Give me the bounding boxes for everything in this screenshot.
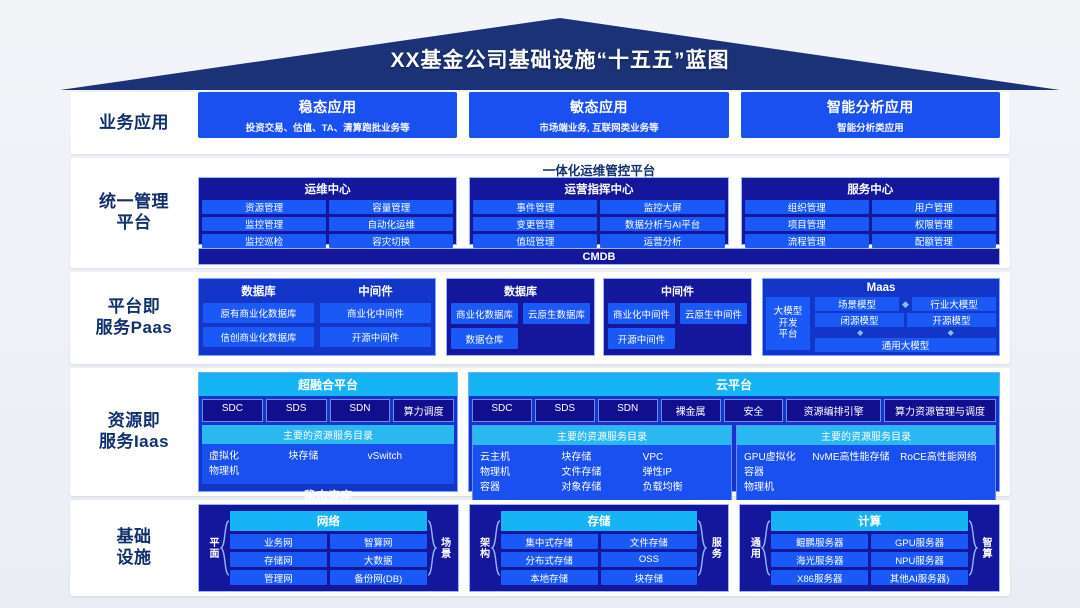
cloud-platform: 云平台 SDC SDS SDN 裸金属 安全 资源编排引擎 算力资源管理与调度 …	[468, 372, 1000, 492]
paas-item-row: 开源中间件	[608, 328, 747, 353]
maas-model[interactable]: 行业大模型	[912, 297, 996, 311]
left-brace-icon	[491, 509, 501, 587]
paas-sub-title: 数据库	[203, 283, 314, 299]
catalog-item[interactable]: 块存储	[561, 450, 642, 465]
catalog-columns: 虚拟化 物理机 块存储 vSwitch	[209, 449, 447, 479]
sd-chip[interactable]: 算力资源管理与调度	[884, 399, 996, 422]
app-card-stable[interactable]: 稳态应用 投资交易、估值、TA、清算跑批业务等	[198, 92, 457, 138]
maas-dev-line2: 开发	[774, 318, 803, 330]
catalog-column: vSwitch	[368, 449, 447, 479]
infra-mid-network: 网络 业务网 智算网 存储网 大数据 管理网 备份网(DB)	[230, 511, 427, 585]
paas-database-traditional[interactable]: 数据库 原有商业化数据库 信创商业化数据库	[203, 283, 314, 351]
maas-title: Maas	[766, 282, 996, 294]
catalog-column: 块存储	[288, 449, 367, 479]
catalog-item[interactable]: 物理机	[209, 464, 288, 479]
infra-item[interactable]: 其他AI服务器)	[871, 570, 968, 585]
infra-right-label: 场景	[437, 509, 452, 587]
sd-chip-row: SDC SDS SDN 裸金属 安全 资源编排引擎 算力资源管理与调度	[469, 396, 999, 425]
iaas-columns: 超融合平台 SDC SDS SDN 算力调度 主要的资源服务目录 虚拟化	[198, 372, 1000, 492]
paas-item-row: 商业化数据库 云原生数据库	[451, 303, 590, 328]
center-item-grid: 资源管理 容量管理 监控管理 自动化运维 监控巡检 容灾切换	[202, 200, 453, 248]
sd-chip[interactable]: 资源编排引擎	[786, 399, 881, 422]
infra-card-network: 平面 网络 业务网 智算网 存储网 大数据 管理网 备份网(DB)	[198, 504, 459, 592]
paas-database-cloud[interactable]: 数据库 商业化数据库 云原生数据库 数据仓库	[446, 278, 595, 356]
infra-item[interactable]: 块存储	[601, 570, 698, 585]
infra-item[interactable]: 集中式存储	[501, 534, 598, 549]
row-label-paas: 平台即 服务Paas	[70, 297, 198, 338]
row-label-unified-management: 统一管理 平台	[70, 192, 198, 233]
maas-model-stack: 场景模型 ◆ 行业大模型 闭源模型 开源模型 ◆ ◆	[815, 297, 996, 350]
maas-dev-line3: 平台	[774, 329, 803, 341]
paas-item[interactable]: 开源中间件	[608, 328, 675, 349]
paas-item[interactable]: 商业化中间件	[320, 303, 431, 323]
center-item[interactable]: 值班管理	[473, 234, 597, 248]
catalog-wrap: 主要的资源服务目录 虚拟化 物理机 块存储	[199, 425, 457, 484]
sd-chip[interactable]: 安全	[724, 399, 784, 422]
cloud-catalog-general: 主要的资源服务目录 云主机 物理机 容器 块存储	[472, 425, 732, 501]
center-item[interactable]: 项目管理	[745, 217, 869, 231]
row-label-iaas: 资源即 服务Iaas	[70, 411, 198, 452]
infra-card-compute: 通用 计算 鲲鹏服务器 GPU服务器 海光服务器 NPU服务器 X86服务器 其…	[739, 504, 1000, 592]
center-title: 运维中心	[202, 181, 453, 197]
catalog-item[interactable]: 容器	[744, 465, 812, 480]
app-card-intelligent-analysis[interactable]: 智能分析应用 智能分析类应用	[741, 92, 1000, 138]
cloud-catalog-ai: 主要的资源服务目录 GPU虚拟化 容器 物理机 NvME高性能	[736, 425, 996, 501]
catalog-item[interactable]: NvME高性能存储	[812, 450, 900, 465]
right-brace-icon	[697, 509, 707, 587]
infra-title: 存储	[501, 511, 698, 531]
maas-general-model[interactable]: 通用大模型	[815, 338, 996, 352]
catalog-item[interactable]: 块存储	[288, 449, 367, 464]
row-infrastructure-as-a-service: 资源即 服务Iaas 超融合平台 SDC SDS SDN 算力调度 主要的资源服…	[70, 368, 1010, 496]
infra-left-label: 平面	[205, 509, 220, 587]
row-body-iaas: 超融合平台 SDC SDS SDN 算力调度 主要的资源服务目录 虚拟化	[198, 368, 1010, 496]
infra-right-label: 智算	[978, 509, 993, 587]
row-unified-management: 统一管理 平台 一体化运维管控平台 运维中心 资源管理 容量管理 监控管理 自动…	[70, 158, 1010, 268]
row-label-infrastructure: 基础 设施	[70, 527, 198, 568]
center-item-grid: 事件管理 监控大屏 变更管理 数据分析与AI平台 值班管理 运营分析	[473, 200, 724, 248]
cloud-catalog-panes: 主要的资源服务目录 云主机 物理机 容器 块存储	[469, 425, 999, 504]
center-item[interactable]: 自动化运维	[329, 217, 453, 231]
catalog-column: 虚拟化 物理机	[209, 449, 288, 479]
app-card-subtitle: 智能分析类应用	[837, 120, 904, 134]
sd-chip[interactable]: SDC	[472, 399, 532, 422]
paas-item[interactable]: 商业化数据库	[451, 303, 518, 324]
infra-item[interactable]: GPU服务器	[871, 534, 968, 549]
catalog-column: VPC 弹性IP 负载均衡	[643, 450, 724, 495]
infra-left-label: 架构	[476, 509, 491, 587]
left-brace-icon	[761, 509, 771, 587]
infra-left-label: 通用	[746, 509, 761, 587]
paas-item[interactable]: 云原生中间件	[680, 303, 747, 324]
infra-item[interactable]: X86服务器	[771, 570, 868, 585]
catalog-body: 云主机 物理机 容器 块存储 文件存储 对象存储	[473, 445, 731, 500]
paas-sub-title: 中间件	[320, 283, 431, 299]
maas-dev-line1: 大模型	[774, 306, 803, 318]
catalog-item[interactable]: 对象存储	[561, 480, 642, 495]
catalog-item[interactable]: vSwitch	[368, 449, 447, 464]
infra-card-storage: 架构 存储 集中式存储 文件存储 分布式存储 OSS 本地存储 块存储	[469, 504, 730, 592]
catalog-item[interactable]: 虚拟化	[209, 449, 288, 464]
paas-sub-title: 数据库	[451, 283, 590, 299]
row-label-line2: 服务Paas	[70, 318, 198, 339]
app-card-title: 智能分析应用	[827, 97, 914, 117]
center-item[interactable]: 监控巡检	[202, 234, 326, 248]
infra-item[interactable]: 业务网	[230, 534, 327, 549]
infra-mid-storage: 存储 集中式存储 文件存储 分布式存储 OSS 本地存储 块存储	[501, 511, 698, 585]
app-card-subtitle: 市场端业务, 互联网类业务等	[539, 120, 658, 134]
paas-item-spacer	[680, 328, 747, 353]
application-card-strip: 稳态应用 投资交易、估值、TA、清算跑批业务等 敏态应用 市场端业务, 互联网类…	[198, 92, 1010, 138]
sd-chip[interactable]: 算力调度	[393, 399, 454, 422]
row-label-business-application: 业务应用	[70, 113, 198, 134]
catalog-item[interactable]: GPU虚拟化	[744, 450, 812, 465]
infra-item[interactable]: 文件存储	[601, 534, 698, 549]
paas-middleware-traditional[interactable]: 中间件 商业化中间件 开源中间件	[320, 283, 431, 351]
row-platform-as-a-service: 平台即 服务Paas 数据库 原有商业化数据库 信创商业化数据库 中间件 商业化…	[70, 272, 1010, 364]
center-ops[interactable]: 运维中心 资源管理 容量管理 监控管理 自动化运维 监控巡检 容灾切换	[198, 177, 457, 245]
platform-header: 超融合平台	[199, 373, 457, 396]
row-label-line1: 平台即	[70, 297, 198, 318]
catalog-body: 虚拟化 物理机 块存储 vSwitch	[202, 444, 454, 484]
center-item[interactable]: 配额管理	[872, 234, 996, 248]
maas-model[interactable]: 开源模型	[907, 313, 996, 327]
paas-item-row: 商业化中间件 云原生中间件	[608, 303, 747, 328]
maas-model[interactable]: 场景模型	[815, 297, 899, 311]
app-card-title: 敏态应用	[570, 97, 628, 117]
row-label-line2: 平台	[70, 213, 198, 234]
roof-banner: XX基金公司基础设施“十五五”蓝图	[60, 18, 1060, 90]
center-operation-command[interactable]: 运营指挥中心 事件管理 监控大屏 变更管理 数据分析与AI平台 值班管理 运营分…	[469, 177, 728, 245]
paas-groups: 数据库 原有商业化数据库 信创商业化数据库 中间件 商业化中间件 开源中间件 数…	[198, 278, 1000, 356]
sd-chip[interactable]: 裸金属	[661, 399, 721, 422]
infra-item[interactable]: 鲲鹏服务器	[771, 534, 868, 549]
catalog-column: 块存储 文件存储 对象存储	[561, 450, 642, 495]
row-body-paas: 数据库 原有商业化数据库 信创商业化数据库 中间件 商业化中间件 开源中间件 数…	[198, 272, 1010, 364]
row-label-line2: 服务Iaas	[70, 432, 198, 453]
paas-group-maas: Maas 大模型 开发 平台 场景模型 ◆	[762, 278, 1000, 356]
sd-chip-row: SDC SDS SDN 算力调度	[199, 396, 457, 425]
catalog-item[interactable]: VPC	[643, 450, 724, 465]
row-label-line1: 基础	[70, 527, 198, 548]
center-item[interactable]: 资源管理	[202, 200, 326, 214]
app-card-agile[interactable]: 敏态应用 市场端业务, 互联网类业务等	[469, 92, 728, 138]
catalog-item[interactable]: RoCE高性能网络	[900, 450, 988, 465]
catalog-item[interactable]: 物理机	[744, 480, 812, 495]
center-item[interactable]: 容量管理	[329, 200, 453, 214]
maas-row-scene: 场景模型 ◆ 行业大模型	[815, 297, 996, 311]
paas-item-spacer	[523, 328, 590, 353]
catalog-columns: 云主机 物理机 容器 块存储 文件存储 对象存储	[480, 450, 724, 495]
infra-right-label: 服务	[707, 509, 722, 587]
row-label-line1: 资源即	[70, 411, 198, 432]
infra-mid-compute: 计算 鲲鹏服务器 GPU服务器 海光服务器 NPU服务器 X86服务器 其他AI…	[771, 511, 968, 585]
center-item[interactable]: 事件管理	[473, 200, 597, 214]
catalog-item[interactable]: 容器	[480, 480, 561, 495]
infra-item[interactable]: 智算网	[330, 534, 427, 549]
row-infrastructure: 基础 设施 平面 网络 业务网 智算网 存储网	[70, 500, 1010, 596]
center-item[interactable]: 权限管理	[872, 217, 996, 231]
maas-arrow-row: ◆ ◆	[815, 329, 996, 336]
center-item[interactable]: 变更管理	[473, 217, 597, 231]
infra-item-grid: 集中式存储 文件存储 分布式存储 OSS 本地存储 块存储	[501, 534, 698, 585]
catalog-header: 主要的资源服务目录	[737, 426, 995, 445]
row-body-business-application: 稳态应用 投资交易、估值、TA、清算跑批业务等 敏态应用 市场端业务, 互联网类…	[198, 92, 1010, 154]
paas-item[interactable]: 数据仓库	[451, 328, 518, 349]
infra-item[interactable]: 海光服务器	[771, 552, 868, 567]
cmdb-bar[interactable]: CMDB	[198, 248, 1000, 265]
row-label-line1: 统一管理	[70, 192, 198, 213]
sd-chip[interactable]: SDN	[330, 399, 391, 422]
infra-title: 计算	[771, 511, 968, 531]
center-title: 运营指挥中心	[473, 181, 724, 197]
infra-item[interactable]: 分布式存储	[501, 552, 598, 567]
diamond-arrow-icon: ◆	[902, 300, 909, 309]
maas-body: 大模型 开发 平台 场景模型 ◆ 行业大模型	[766, 297, 996, 350]
diamond-arrow-icon: ◆	[815, 329, 906, 336]
row-body-infrastructure: 平面 网络 业务网 智算网 存储网 大数据 管理网 备份网(DB)	[198, 500, 1010, 596]
diamond-arrow-icon: ◆	[906, 329, 997, 336]
center-title: 服务中心	[745, 181, 996, 197]
row-label-line2: 设施	[70, 548, 198, 569]
infra-item[interactable]: NPU服务器	[871, 552, 968, 567]
platform-header: 云平台	[469, 373, 999, 396]
infra-item[interactable]: OSS	[601, 552, 698, 567]
center-item-grid: 组织管理 用户管理 项目管理 权限管理 流程管理 配额管理	[745, 200, 996, 248]
right-brace-icon	[968, 509, 978, 587]
catalog-body: GPU虚拟化 容器 物理机 NvME高性能存储 RoCE高性能网络	[737, 445, 995, 500]
paas-group-cloud-native: 数据库 商业化数据库 云原生数据库 数据仓库	[446, 278, 752, 356]
catalog-item[interactable]: 云主机	[480, 450, 561, 465]
catalog-item[interactable]: 负载均衡	[643, 480, 724, 495]
sd-chip[interactable]: SDC	[202, 399, 263, 422]
row-body-unified-management: 一体化运维管控平台 运维中心 资源管理 容量管理 监控管理 自动化运维 监控巡检…	[198, 158, 1010, 268]
catalog-column: GPU虚拟化 容器 物理机	[744, 450, 812, 495]
center-item[interactable]: 组织管理	[745, 200, 869, 214]
infra-item[interactable]: 备份网(DB)	[330, 570, 427, 585]
paas-group-traditional: 数据库 原有商业化数据库 信创商业化数据库 中间件 商业化中间件 开源中间件	[198, 278, 436, 356]
catalog-header: 主要的资源服务目录	[473, 426, 731, 445]
sd-chip[interactable]: SDS	[266, 399, 327, 422]
catalog-column: NvME高性能存储	[812, 450, 900, 495]
infra-title: 网络	[230, 511, 427, 531]
paas-item[interactable]: 开源中间件	[320, 327, 431, 347]
infra-item-grid: 鲲鹏服务器 GPU服务器 海光服务器 NPU服务器 X86服务器 其他AI服务器…	[771, 534, 968, 585]
app-card-subtitle: 投资交易、估值、TA、清算跑批业务等	[246, 120, 410, 134]
paas-item[interactable]: 云原生数据库	[523, 303, 590, 324]
app-card-title: 稳态应用	[299, 97, 357, 117]
center-service[interactable]: 服务中心 组织管理 用户管理 项目管理 权限管理 流程管理 配额管理	[741, 177, 1000, 245]
center-item[interactable]: 数据分析与AI平台	[600, 217, 724, 231]
right-brace-icon	[427, 509, 437, 587]
center-item[interactable]: 运营分析	[600, 234, 724, 248]
catalog-header: 主要的资源服务目录	[202, 425, 454, 444]
maas-model[interactable]: 闭源模型	[815, 313, 904, 327]
paas-item[interactable]: 信创商业化数据库	[203, 327, 314, 347]
infra-item-grid: 业务网 智算网 存储网 大数据 管理网 备份网(DB)	[230, 534, 427, 585]
center-item[interactable]: 监控大屏	[600, 200, 724, 214]
catalog-columns: GPU虚拟化 容器 物理机 NvME高性能存储 RoCE高性能网络	[744, 450, 988, 495]
catalog-column: RoCE高性能网络	[900, 450, 988, 495]
row-business-application: 业务应用 稳态应用 投资交易、估值、TA、清算跑批业务等 敏态应用 市场端业务,…	[70, 92, 1010, 154]
management-center-columns: 运维中心 资源管理 容量管理 监控管理 自动化运维 监控巡检 容灾切换 运营指挥…	[198, 177, 1000, 245]
paas-item-row: 数据仓库	[451, 328, 590, 353]
left-brace-icon	[220, 509, 230, 587]
infra-item[interactable]: 管理网	[230, 570, 327, 585]
paas-sub-title: 中间件	[608, 283, 747, 299]
paas-item[interactable]: 商业化中间件	[608, 303, 675, 324]
blueprint-page: XX基金公司基础设施“十五五”蓝图 业务应用 稳态应用 投资交易、估值、TA、清…	[0, 0, 1080, 608]
catalog-item[interactable]: 弹性IP	[643, 465, 724, 480]
paas-middleware-cloud[interactable]: 中间件 商业化中间件 云原生中间件 开源中间件	[603, 278, 752, 356]
paas-item[interactable]: 原有商业化数据库	[203, 303, 314, 323]
infra-item[interactable]: 存储网	[230, 552, 327, 567]
maas-dev-platform[interactable]: 大模型 开发 平台	[766, 297, 810, 350]
catalog-item[interactable]: 文件存储	[561, 465, 642, 480]
center-item[interactable]: 用户管理	[872, 200, 996, 214]
catalog-item[interactable]: 物理机	[480, 465, 561, 480]
hyperconverged-platform: 超融合平台 SDC SDS SDN 算力调度 主要的资源服务目录 虚拟化	[198, 372, 458, 492]
center-item[interactable]: 容灾切换	[329, 234, 453, 248]
center-item[interactable]: 监控管理	[202, 217, 326, 231]
infra-item[interactable]: 大数据	[330, 552, 427, 567]
page-title: XX基金公司基础设施“十五五”蓝图	[60, 44, 1060, 74]
sd-chip[interactable]: SDN	[598, 399, 658, 422]
maas-row-source: 闭源模型 开源模型	[815, 313, 996, 327]
center-item[interactable]: 流程管理	[745, 234, 869, 248]
sd-chip[interactable]: SDS	[535, 399, 595, 422]
infrastructure-cards: 平面 网络 业务网 智算网 存储网 大数据 管理网 备份网(DB)	[198, 504, 1000, 592]
catalog-column: 云主机 物理机 容器	[480, 450, 561, 495]
infra-item[interactable]: 本地存储	[501, 570, 598, 585]
